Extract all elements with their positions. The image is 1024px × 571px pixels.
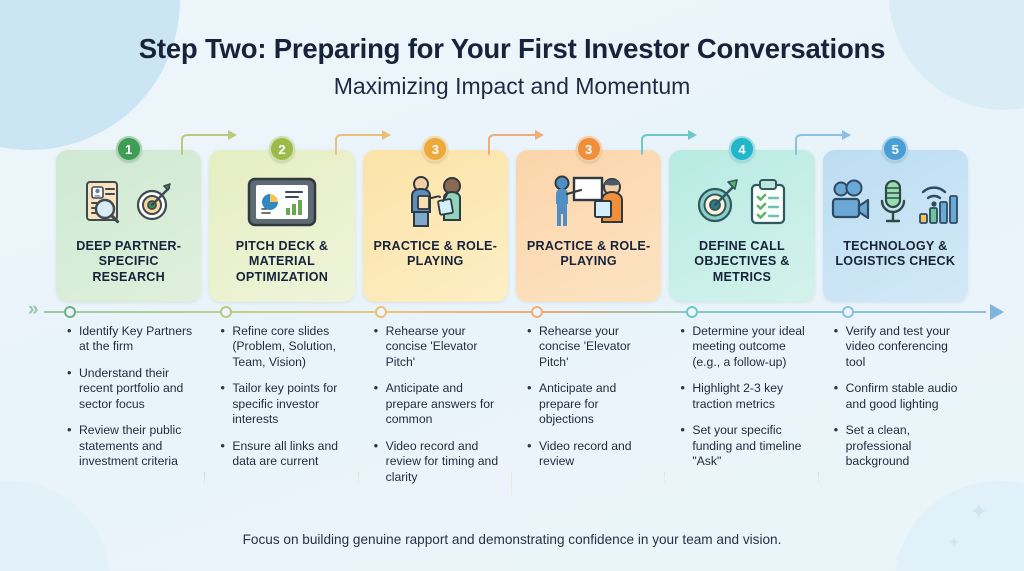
step-icons: [830, 172, 960, 232]
footer-note: Focus on building genuine rapport and de…: [0, 532, 1024, 547]
page-subtitle: Maximizing Impact and Momentum: [0, 73, 1024, 100]
bullet-item: Set your specific funding and timeline "…: [679, 423, 808, 469]
infographic-canvas: ✦ ✦ Step Two: Preparing for Your First I…: [0, 0, 1024, 571]
step-title: PRACTICE & ROLE-PLAYING: [516, 239, 661, 270]
column-divider: [664, 472, 665, 487]
step-card-1[interactable]: 1DEEP PARTNER-SPECIFIC RESEARCH: [56, 150, 201, 302]
bullet-item: Anticipate and prepare answers for commo…: [373, 381, 502, 427]
timeline: »: [30, 311, 1002, 313]
timeline-node-4: [531, 306, 543, 318]
step-column-2: 2PITCH DECK & MATERIAL OPTIMIZATIONRefin…: [209, 150, 354, 481]
step-icons: [83, 172, 175, 232]
steps-columns: 1DEEP PARTNER-SPECIFIC RESEARCHIdentify …: [0, 150, 1024, 496]
step-bullets: Refine core slides (Problem, Solution, T…: [209, 302, 354, 470]
step-bullets: Determine your ideal meeting outcome (e.…: [669, 302, 814, 470]
double-chevron-icon: »: [28, 300, 39, 319]
column-divider: [511, 472, 512, 502]
bullet-item: Rehearse your concise 'Elevator Pitch': [526, 324, 655, 370]
steps-board: 1DEEP PARTNER-SPECIFIC RESEARCHIdentify …: [0, 150, 1024, 496]
step-badge-4: 3: [576, 136, 602, 162]
step-badge-3: 3: [422, 136, 448, 162]
signal-bars-icon: [914, 178, 960, 226]
bullet-item: Determine your ideal meeting outcome (e.…: [679, 324, 808, 370]
clipboard-check-icon: [747, 178, 789, 226]
step-bullets: Verify and test your video conferencing …: [823, 302, 968, 470]
bullet-item: Understand their recent portfolio and se…: [66, 366, 195, 412]
step-title: DEFINE CALL OBJECTIVES & METRICS: [669, 239, 814, 285]
step-card-3[interactable]: 3PRACTICE & ROLE-PLAYING: [363, 150, 508, 302]
step-title: DEEP PARTNER-SPECIFIC RESEARCH: [56, 239, 201, 285]
timeline-node-6: [842, 306, 854, 318]
timeline-arrow-icon: [990, 304, 1004, 320]
step-title: PITCH DECK & MATERIAL OPTIMIZATION: [209, 239, 354, 285]
step-icons: [695, 172, 789, 232]
step-column-3: 3PRACTICE & ROLE-PLAYINGRehearse your co…: [363, 150, 508, 496]
step-column-1: 1DEEP PARTNER-SPECIFIC RESEARCHIdentify …: [56, 150, 201, 481]
timeline-node-5: [686, 306, 698, 318]
column-divider: [204, 472, 205, 487]
step-badge-5: 4: [729, 136, 755, 162]
step-card-4[interactable]: 3PRACTICE & ROLE-PLAYING: [516, 150, 661, 302]
document-search-icon: [83, 179, 127, 225]
bullet-item: Refine core slides (Problem, Solution, T…: [219, 324, 348, 370]
step-icons: [548, 172, 630, 232]
step-icons: [246, 172, 318, 232]
two-people-practice-icon: [398, 174, 472, 230]
microphone-icon: [878, 178, 908, 226]
bullet-item: Set a clean, professional background: [833, 423, 962, 469]
step-card-5[interactable]: 4DEFINE CALL OBJECTIVES & METRICS: [669, 150, 814, 302]
step-badge-2: 2: [269, 136, 295, 162]
video-camera-icon: [830, 179, 872, 225]
step-card-6[interactable]: 5TECHNOLOGY & LOGISTICS CHECK: [823, 150, 968, 302]
target-icon: [133, 179, 175, 225]
sparkle-icon: ✦: [970, 501, 988, 523]
bullet-item: Review their public statements and inves…: [66, 423, 195, 469]
bullet-item: Identify Key Partners at the firm: [66, 324, 195, 355]
step-badge-6: 5: [882, 136, 908, 162]
step-title: TECHNOLOGY & LOGISTICS CHECK: [823, 239, 968, 270]
step-bullets: Identify Key Partners at the firmUnderst…: [56, 302, 201, 470]
step-title: PRACTICE & ROLE-PLAYING: [363, 239, 508, 270]
header: Step Two: Preparing for Your First Inves…: [0, 33, 1024, 100]
column-divider: [358, 472, 359, 487]
bullet-item: Verify and test your video conferencing …: [833, 324, 962, 370]
bullet-item: Video record and review for timing and c…: [373, 439, 502, 485]
bullet-item: Video record and review: [526, 439, 655, 470]
timeline-node-3: [375, 306, 387, 318]
column-divider: [818, 472, 819, 487]
bullet-item: Confirm stable audio and good lighting: [833, 381, 962, 412]
page-title: Step Two: Preparing for Your First Inves…: [0, 33, 1024, 65]
step-badge-1: 1: [116, 136, 142, 162]
timeline-node-2: [220, 306, 232, 318]
timeline-node-1: [64, 306, 76, 318]
tablet-chart-icon: [246, 176, 318, 228]
bullet-item: Highlight 2-3 key traction metrics: [679, 381, 808, 412]
target-arrow-icon: [695, 178, 741, 226]
bullet-item: Tailor key points for specific investor …: [219, 381, 348, 427]
step-icons: [398, 172, 472, 232]
presenter-whiteboard-icon: [548, 174, 630, 230]
bullet-item: Anticipate and prepare for objections: [526, 381, 655, 427]
bullet-item: Rehearse your concise 'Elevator Pitch': [373, 324, 502, 370]
step-card-2[interactable]: 2PITCH DECK & MATERIAL OPTIMIZATION: [209, 150, 354, 302]
step-bullets: Rehearse your concise 'Elevator Pitch'An…: [516, 302, 661, 470]
bullet-item: Ensure all links and data are current: [219, 439, 348, 470]
step-bullets: Rehearse your concise 'Elevator Pitch'An…: [363, 302, 508, 485]
